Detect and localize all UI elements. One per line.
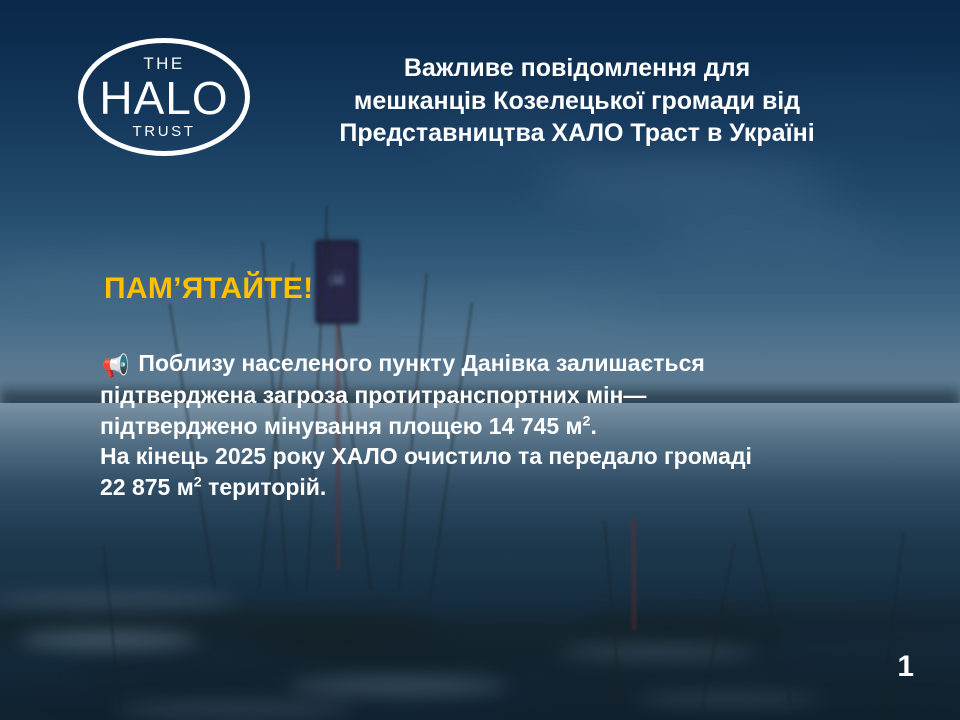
slide-content: THE HALO TRUST Важливе повідомлення для … xyxy=(0,0,960,720)
logo-wordmark: THE HALO TRUST xyxy=(78,38,250,156)
title-line-2: мешканців Козелецької громади від xyxy=(262,85,892,118)
logo-text-halo: HALO xyxy=(99,75,228,121)
title-line-1: Важливе повідомлення для xyxy=(262,52,892,85)
page-title: Важливе повідомлення для мешканців Козел… xyxy=(262,52,892,150)
body-line-4: На кінець 2025 року ХАЛО очистило та пер… xyxy=(100,441,900,472)
logo-text-the: THE xyxy=(143,55,184,72)
megaphone-icon: 📢 xyxy=(102,351,129,380)
title-line-3: Представництва ХАЛО Траст в Україні xyxy=(262,117,892,150)
body-line-5-text: 22 875 м xyxy=(100,474,194,500)
body-line-5-superscript: 2 xyxy=(194,474,202,490)
body-line-3-text: підтверджено мінування площею 14 745 м xyxy=(100,413,583,439)
remember-heading: ПАМ’ЯТАЙТЕ! xyxy=(104,272,313,305)
body-line-2: підтверджена загроза протитранспортних м… xyxy=(100,380,900,411)
body-line-5-tail: територій. xyxy=(202,474,327,500)
page-number: 1 xyxy=(897,650,914,684)
presentation-slide: ☠ THE HALO TRUST Важливе xyxy=(0,0,960,720)
announcement-body: 📢Поблизу населеного пункту Данівка залиш… xyxy=(100,348,900,503)
body-line-3-tail: . xyxy=(590,413,596,439)
body-line-1: 📢Поблизу населеного пункту Данівка залиш… xyxy=(100,348,900,380)
body-line-1-text: Поблизу населеного пункту Данівка залиша… xyxy=(138,350,704,376)
body-line-5: 22 875 м2 територій. xyxy=(100,472,900,503)
body-line-3: підтверджено мінування площею 14 745 м2. xyxy=(100,411,900,442)
logo-text-trust: TRUST xyxy=(133,124,196,139)
halo-trust-logo: THE HALO TRUST xyxy=(78,38,250,156)
